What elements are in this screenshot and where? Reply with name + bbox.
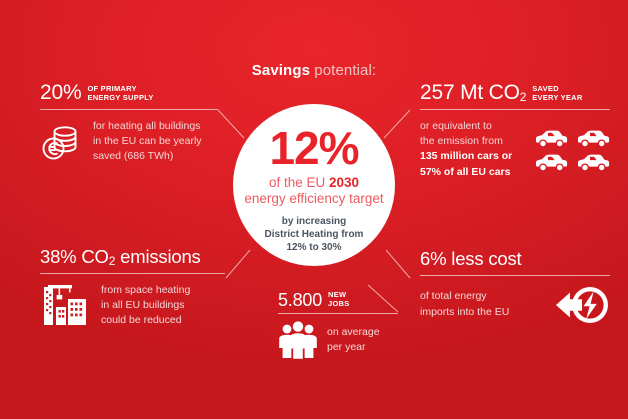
- co2-emissions-number-subscript: 2: [109, 254, 115, 268]
- center-small-line3: 12% to 30%: [265, 241, 364, 254]
- co2-emissions-body: from space heating in all EU buildings c…: [40, 283, 225, 329]
- primary-energy-text: for heating all buildings in the EU can …: [93, 119, 202, 165]
- people-group-icon: [278, 321, 318, 359]
- new-jobs-tag-line1: NEW: [328, 290, 349, 299]
- co2-saved-text-line1: or equivalent to: [420, 119, 512, 134]
- co2-saved-tag-line1: SAVED: [532, 84, 582, 93]
- block-primary-energy: 20% OF PRIMARY ENERGY SUPPLY fo: [40, 82, 218, 165]
- co2-emissions-number-text: 38% CO: [40, 246, 109, 267]
- center-mid-year: 2030: [329, 175, 359, 190]
- co2-saved-number: 257 Mt CO2: [420, 82, 526, 103]
- crane-buildings-icon: [40, 283, 90, 327]
- energy-import-arrow-icon: [554, 285, 610, 325]
- new-jobs-text-line1: on average: [327, 325, 380, 340]
- euro-coins-icon: [40, 121, 82, 163]
- center-big-number: 12%: [269, 126, 358, 170]
- primary-energy-header: 20% OF PRIMARY ENERGY SUPPLY: [40, 82, 218, 103]
- co2-saved-tag-line2: EVERY YEAR: [532, 93, 582, 102]
- less-cost-text: of total energy imports into the EU: [420, 289, 509, 319]
- primary-energy-tag-line2: ENERGY SUPPLY: [87, 93, 153, 102]
- co2-emissions-number-suffix: emissions: [115, 246, 200, 267]
- primary-energy-text-line2: in the EU can be yearly: [93, 134, 202, 149]
- co2-emissions-header: 38% CO2 emissions: [40, 248, 225, 267]
- center-mid-line2: energy efficiency target: [244, 191, 383, 207]
- new-jobs-body: on average per year: [278, 321, 398, 359]
- cars-icon: [534, 125, 610, 173]
- block-new-jobs: 5.800 NEW JOBS on average per year: [278, 290, 398, 359]
- page-title-light: potential:: [310, 62, 376, 79]
- less-cost-text-line1: of total energy: [420, 289, 509, 304]
- less-cost-body: of total energy imports into the EU: [420, 285, 610, 325]
- new-jobs-rule: [278, 313, 398, 314]
- new-jobs-header: 5.800 NEW JOBS: [278, 290, 398, 309]
- new-jobs-tag: NEW JOBS: [328, 290, 349, 309]
- less-cost-header: 6% less cost: [420, 250, 610, 269]
- center-small-line2: District Heating from: [265, 228, 364, 241]
- primary-energy-text-line1: for heating all buildings: [93, 119, 202, 134]
- primary-energy-number: 20%: [40, 82, 81, 103]
- primary-energy-rule: [40, 109, 218, 110]
- block-co2-saved: 257 Mt CO2 SAVED EVERY YEAR or equivalen…: [420, 82, 610, 180]
- page-title-bold: Savings: [252, 62, 310, 79]
- co2-emissions-text-line2: in all EU buildings: [101, 298, 190, 313]
- new-jobs-tag-line2: JOBS: [328, 299, 349, 308]
- less-cost-text-line2: imports into the EU: [420, 305, 509, 320]
- primary-energy-text-line3: saved (686 TWh): [93, 149, 202, 164]
- co2-emissions-text-line1: from space heating: [101, 283, 190, 298]
- co2-emissions-number: 38% CO2 emissions: [40, 248, 201, 267]
- page-title: Savings potential:: [0, 63, 628, 78]
- co2-saved-tag: SAVED EVERY YEAR: [532, 84, 582, 103]
- co2-saved-text-line3: 135 million cars or: [420, 150, 512, 162]
- co2-saved-rule: [420, 109, 610, 110]
- center-mid-text: of the EU 2030 energy efficiency target: [244, 175, 383, 207]
- primary-energy-tag: OF PRIMARY ENERGY SUPPLY: [87, 84, 153, 103]
- center-mid-prefix: of the EU: [269, 175, 329, 190]
- less-cost-number: 6% less cost: [420, 250, 521, 269]
- co2-emissions-text-line3: could be reduced: [101, 313, 190, 328]
- co2-saved-body: or equivalent to the emission from 135 m…: [420, 119, 610, 180]
- center-small-line1: by increasing: [265, 215, 364, 228]
- infographic-poster: Savings potential: 20% OF PRIMARY ENERGY…: [0, 0, 628, 419]
- block-co2-emissions: 38% CO2 emissions: [40, 248, 225, 328]
- new-jobs-number: 5.800: [278, 291, 322, 309]
- block-less-cost: 6% less cost of total energy imports int…: [420, 250, 610, 325]
- primary-energy-tag-line1: OF PRIMARY: [87, 84, 153, 93]
- co2-saved-text: or equivalent to the emission from 135 m…: [420, 119, 512, 180]
- co2-emissions-text: from space heating in all EU buildings c…: [101, 283, 190, 329]
- co2-saved-number-subscript: 2: [520, 90, 526, 104]
- center-circle: 12% of the EU 2030 energy efficiency tar…: [233, 104, 395, 266]
- co2-saved-text-line2: the emission from: [420, 134, 512, 149]
- new-jobs-text: on average per year: [327, 325, 380, 355]
- co2-emissions-rule: [40, 273, 225, 274]
- new-jobs-text-line2: per year: [327, 340, 380, 355]
- co2-saved-number-text: 257 Mt CO: [420, 81, 520, 104]
- co2-saved-text-line4: 57% of all EU cars: [420, 166, 510, 178]
- less-cost-rule: [420, 275, 610, 276]
- center-small-text: by increasing District Heating from 12% …: [265, 215, 364, 255]
- co2-saved-header: 257 Mt CO2 SAVED EVERY YEAR: [420, 82, 610, 103]
- primary-energy-body: for heating all buildings in the EU can …: [40, 119, 218, 165]
